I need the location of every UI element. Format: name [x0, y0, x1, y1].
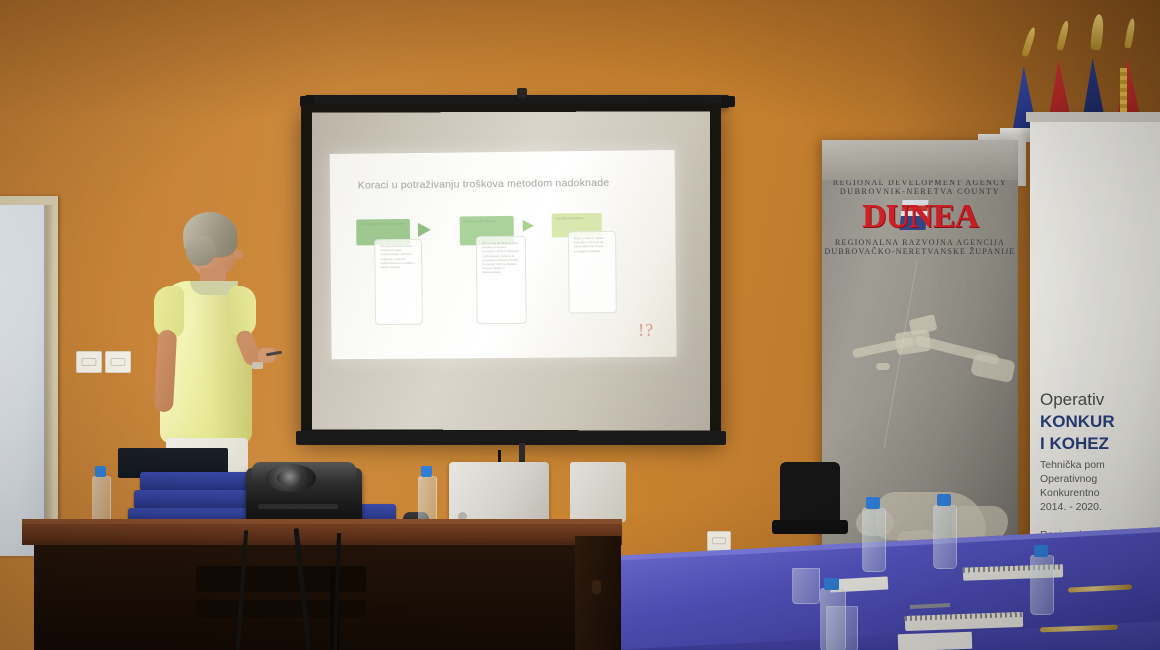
door-shadow [44, 205, 54, 556]
chair-seat [772, 520, 848, 534]
conference-room-photo: Koraci u potraživanju troškova metodom n… [0, 0, 1160, 650]
water-bottle [933, 505, 957, 569]
op-body-text: Tehnička pom Operativnog Konkurentno 201… [1040, 458, 1105, 514]
flow-step-label-2: Podnošenje zahtjeva [460, 216, 514, 227]
chair-slat [196, 600, 366, 618]
map-croatian-coast [852, 315, 1012, 387]
op-heading-line-3: I KOHEZ [1040, 434, 1109, 454]
flow-step-label-1: Prikupljanje dokumentacije [356, 219, 410, 230]
blue-folder[interactable] [134, 490, 250, 509]
bottle-cap [824, 578, 839, 590]
presenter-sleeve-right [228, 286, 256, 336]
op-heading-line-1: Operativ [1040, 390, 1104, 410]
wall-socket [76, 351, 102, 373]
flow-detail-card-2: PT2 u roku 30 dana od dana primitka prov… [476, 236, 527, 324]
plastic-cup [792, 568, 820, 604]
wall-socket [707, 531, 731, 551]
dunea-line-2: DUBROVNIK-NERETVA COUNTY [822, 187, 1018, 196]
flow-detail-text-2: PT2 u roku 30 dana od dana primitka prov… [477, 237, 525, 279]
wristwatch [252, 362, 263, 369]
water-bottle [820, 588, 846, 650]
flow-detail-card-1: Prikupiti potrebne račune • Provjeriti p… [374, 239, 423, 325]
flag-tassel [1120, 68, 1127, 116]
screen-bottom-bar [296, 431, 726, 445]
chair-backrest [196, 566, 366, 592]
monitor [570, 462, 626, 522]
bottle-cap [937, 494, 951, 506]
projector-lens-inner [277, 470, 305, 486]
wall-socket [105, 351, 131, 373]
flow-detail-text-3: Nakon provjere, isplata korisniku u 30 d… [569, 232, 615, 257]
paper-sheet [898, 632, 973, 650]
presenter-desk-front [34, 545, 609, 650]
desk-edge-highlight [22, 519, 622, 524]
chair[interactable] [780, 462, 840, 528]
flow-detail-card-3: Nakon provjere, isplata korisniku u 30 d… [568, 231, 617, 314]
bottle-cap [95, 466, 106, 477]
flow-detail-text-1: Prikupiti potrebne račune • Provjeriti p… [375, 240, 421, 274]
dunea-line-4: DUBROVAČKO-NERETVANSKE ŽUPANIJE [822, 247, 1018, 256]
projector-vent [258, 504, 338, 509]
water-bottle [1030, 555, 1054, 615]
banner-dunea-top-rail [822, 140, 1018, 180]
presenter-face-profile [234, 250, 243, 259]
desk-drawer-knob[interactable] [592, 580, 601, 594]
flow-step-label-3: Isplata sredstava [552, 213, 602, 224]
screen-mount-clip [517, 88, 527, 98]
op-heading-line-2: KONKUR [1040, 412, 1115, 432]
slide-title: Koraci u potraživanju troškova metodom n… [358, 175, 638, 192]
dunea-line-3: REGIONALNA RAZVOJNA AGENCIJA [822, 238, 1018, 247]
banner-op-top-rail [1026, 112, 1160, 122]
projected-slide: Koraci u potraživanju troškova metodom n… [330, 150, 677, 359]
dunea-logo: DUNEA [822, 198, 1018, 236]
bottle-cap [866, 497, 880, 509]
blue-folder[interactable] [140, 472, 250, 491]
bottle-cap [1034, 545, 1048, 557]
door[interactable] [0, 205, 46, 556]
water-bottle [862, 508, 886, 572]
exclamation-question-icon: !? [638, 320, 654, 341]
bottle-cap [421, 466, 432, 477]
arrow-right-icon [523, 220, 534, 232]
screen-case-end [721, 96, 735, 107]
arrow-right-icon [418, 223, 431, 237]
